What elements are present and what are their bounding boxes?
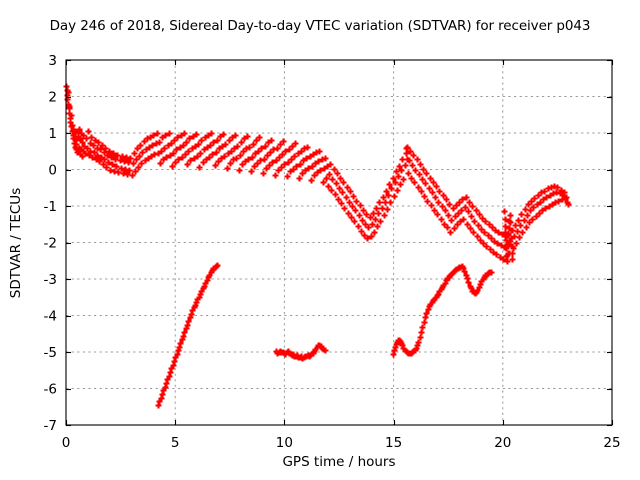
y-tick-label: 3 [48,53,57,69]
y-axis-tick-labels: 3210-1-2-3-4-5-6-7 [44,53,57,434]
y-tick-label: 2 [48,90,57,106]
y-tick-label: 0 [48,163,57,179]
chart-root: Day 246 of 2018, Sidereal Day-to-day VTE… [0,0,640,480]
y-tick-label: -1 [44,199,57,215]
x-tick-label: 20 [494,435,511,451]
scatter-plot: 0510152025 3210-1-2-3-4-5-6-7 GPS time /… [0,0,640,480]
plot-frame [66,60,612,425]
data-points-layer [64,84,572,409]
y-tick-label: -7 [44,418,57,434]
tick-marks [66,60,613,426]
x-tick-label: 10 [276,435,293,451]
x-tick-label: 15 [385,435,402,451]
y-tick-label: 1 [48,126,57,142]
y-tick-label: -2 [44,236,57,252]
x-tick-label: 0 [62,435,71,451]
x-axis-tick-labels: 0510152025 [62,435,621,451]
grid-lines [66,60,612,425]
y-tick-label: -6 [44,382,57,398]
y-tick-label: -3 [44,272,57,288]
y-tick-label: -4 [44,309,57,325]
x-axis-title: GPS time / hours [282,454,395,470]
x-tick-label: 25 [603,435,620,451]
y-tick-label: -5 [44,345,57,361]
x-tick-label: 5 [171,435,180,451]
y-axis-title: SDTVAR / TECUs [8,188,24,298]
